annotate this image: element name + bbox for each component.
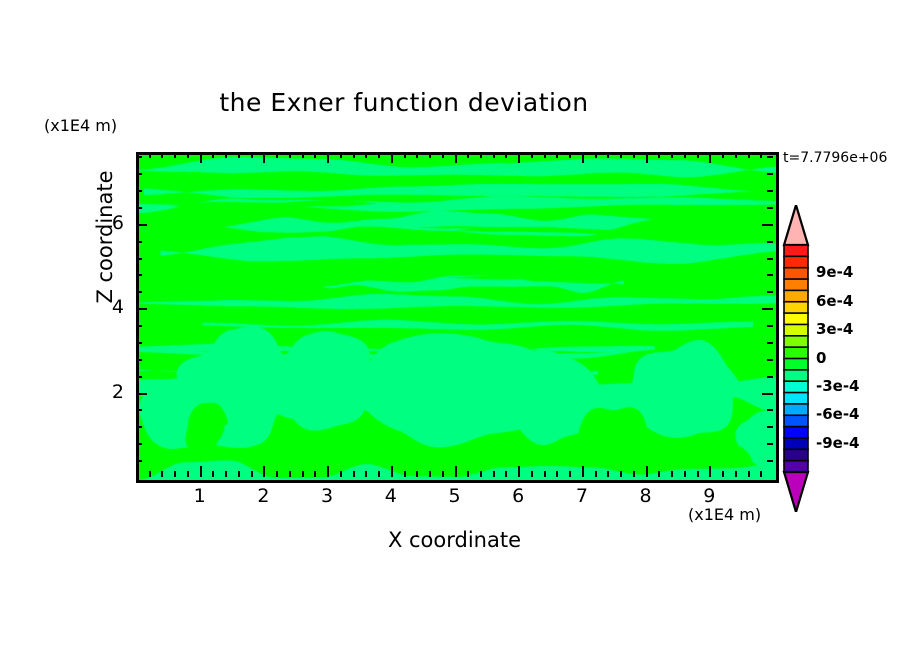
y-axis-tick	[136, 308, 147, 310]
x-axis-tick	[365, 152, 367, 158]
x-axis-tick	[276, 152, 278, 158]
x-axis-tick	[697, 471, 699, 477]
time-annotation: t=7.7796e+06	[783, 150, 887, 166]
x-axis-tick	[493, 152, 495, 158]
x-axis-tick	[327, 466, 329, 477]
x-axis-tick	[200, 152, 202, 163]
x-axis-tick	[289, 471, 291, 477]
colorbar-band	[784, 256, 808, 268]
x-axis-tick	[518, 466, 520, 477]
x-axis-tick	[212, 152, 214, 158]
x-axis-tick	[544, 152, 546, 158]
x-axis-tick	[544, 471, 546, 477]
y-axis-tick	[762, 393, 773, 395]
x-axis-tick	[697, 152, 699, 158]
y-axis-tick	[762, 224, 773, 226]
x-axis-tick	[302, 152, 304, 158]
x-axis-tick	[531, 471, 533, 477]
x-axis-tick	[505, 471, 507, 477]
x-axis-tick	[607, 471, 609, 477]
x-axis-tick	[455, 152, 457, 163]
x-axis-tick	[684, 471, 686, 477]
x-axis-tick	[633, 152, 635, 158]
colorbar-band	[784, 427, 808, 439]
x-axis-tick	[327, 152, 329, 163]
colorbar-band	[784, 393, 808, 405]
x-axis-tick	[684, 152, 686, 158]
x-axis-tick	[607, 152, 609, 158]
x-axis-tick	[480, 471, 482, 477]
y-axis-tick	[136, 393, 147, 395]
x-axis-tick	[493, 471, 495, 477]
y-axis-tick	[136, 443, 142, 445]
x-axis-tick	[467, 471, 469, 477]
y-axis-tick	[767, 409, 773, 411]
x-axis-tick	[353, 471, 355, 477]
x-axis-tick	[505, 152, 507, 158]
x-axis-tick	[760, 152, 762, 158]
x-axis-tick	[200, 466, 202, 477]
x-axis-tick	[187, 471, 189, 477]
x-axis-tick	[302, 471, 304, 477]
figure-root: the Exner function deviation (x1E4 m) t=…	[0, 0, 904, 654]
x-axis-tick	[480, 152, 482, 158]
x-axis-tick	[556, 471, 558, 477]
x-axis-tick	[671, 152, 673, 158]
page-title: the Exner function deviation	[0, 88, 856, 117]
y-axis-tick	[136, 325, 142, 327]
x-axis-tick	[455, 466, 457, 477]
colorbar-tick-label: -9e-4	[816, 434, 860, 452]
x-axis-tick	[556, 152, 558, 158]
y-axis-tick	[136, 173, 142, 175]
y-axis-tick	[767, 460, 773, 462]
y-axis-tick-label: 2	[84, 381, 124, 403]
y-axis-tick	[762, 308, 773, 310]
x-axis-tick	[174, 471, 176, 477]
x-axis-tick	[518, 152, 520, 163]
x-axis-tick	[722, 471, 724, 477]
colorbar-band	[784, 336, 808, 348]
colorbar-band	[784, 290, 808, 302]
x-axis-tick	[314, 471, 316, 477]
x-axis-tick-label: 2	[243, 485, 283, 507]
x-axis-tick	[212, 471, 214, 477]
y-axis-tick	[767, 376, 773, 378]
y-axis-tick	[136, 291, 142, 293]
y-axis-tick	[767, 241, 773, 243]
x-axis-tick-label: 8	[626, 485, 666, 507]
x-axis-tick	[251, 471, 253, 477]
x-axis-tick	[416, 152, 418, 158]
colorbar-over-arrow	[784, 205, 808, 245]
colorbar-band	[784, 347, 808, 359]
y-axis-tick	[767, 426, 773, 428]
y-axis-tick	[136, 224, 147, 226]
x-axis-tick	[735, 471, 737, 477]
x-axis-tick	[263, 466, 265, 477]
y-axis-tick	[767, 443, 773, 445]
y-axis-tick	[767, 207, 773, 209]
y-axis-title: Z coordinate	[93, 122, 117, 352]
colorbar-band	[784, 313, 808, 325]
x-axis-tick	[365, 471, 367, 477]
x-axis-tick	[748, 471, 750, 477]
x-axis-tick	[569, 152, 571, 158]
colorbar-band	[784, 324, 808, 336]
x-axis-tick	[658, 152, 660, 158]
x-axis-tick	[671, 471, 673, 477]
colorbar-band	[784, 404, 808, 416]
x-axis-tick	[225, 152, 227, 158]
x-axis-tick	[225, 471, 227, 477]
x-axis-tick	[620, 152, 622, 158]
colorbar-tick-label: 9e-4	[816, 263, 853, 281]
colorbar-tick-label: 0	[816, 349, 826, 367]
x-axis-tick	[569, 471, 571, 477]
x-axis-tick	[238, 152, 240, 158]
x-axis-tick	[353, 152, 355, 158]
x-axis-unit-label: (x1E4 m)	[688, 505, 761, 524]
y-axis-tick	[136, 409, 142, 411]
x-axis-tick	[620, 471, 622, 477]
y-axis-tick	[767, 274, 773, 276]
x-axis-tick	[263, 152, 265, 163]
x-axis-tick	[404, 471, 406, 477]
colorbar-band	[784, 302, 808, 314]
y-axis-tick	[767, 342, 773, 344]
x-axis-tick	[149, 152, 151, 158]
colorbar-band	[784, 381, 808, 393]
y-axis-tick	[136, 207, 142, 209]
x-axis-tick-label: 6	[498, 485, 538, 507]
contour-plot-area	[136, 152, 779, 483]
colorbar-band	[784, 279, 808, 291]
x-axis-tick	[416, 471, 418, 477]
y-axis-tick	[767, 325, 773, 327]
x-axis-tick	[709, 466, 711, 477]
x-axis-tick	[289, 152, 291, 158]
x-axis-tick	[161, 152, 163, 158]
x-axis-tick	[709, 152, 711, 163]
x-axis-tick	[391, 152, 393, 163]
x-axis-title: X coordinate	[136, 528, 773, 552]
colorbar-tick-label: 6e-4	[816, 292, 853, 310]
y-axis-tick	[767, 359, 773, 361]
colorbar-under-arrow	[784, 472, 808, 512]
x-axis-tick	[161, 471, 163, 477]
x-axis-tick	[595, 152, 597, 158]
x-axis-tick	[467, 152, 469, 158]
x-axis-tick	[314, 152, 316, 158]
colorbar-band	[784, 359, 808, 371]
x-axis-tick	[149, 471, 151, 477]
y-axis-tick	[136, 460, 142, 462]
x-axis-tick	[429, 471, 431, 477]
x-axis-tick	[391, 466, 393, 477]
x-axis-tick	[582, 466, 584, 477]
y-axis-tick	[767, 156, 773, 158]
x-axis-tick	[378, 471, 380, 477]
y-axis-tick	[136, 258, 142, 260]
x-axis-tick	[378, 152, 380, 158]
y-axis-tick	[136, 342, 142, 344]
x-axis-tick	[582, 152, 584, 163]
y-axis-tick	[136, 274, 142, 276]
x-axis-tick	[276, 471, 278, 477]
colorbar-svg	[782, 205, 810, 512]
y-axis-tick	[136, 241, 142, 243]
colorbar-band	[784, 245, 808, 257]
x-axis-tick-label: 7	[562, 485, 602, 507]
x-axis-tick	[748, 152, 750, 158]
x-axis-tick	[340, 471, 342, 477]
x-axis-tick	[238, 471, 240, 477]
x-axis-tick-label: 4	[371, 485, 411, 507]
x-axis-tick-label: 3	[307, 485, 347, 507]
x-axis-tick	[442, 152, 444, 158]
y-axis-tick	[136, 190, 142, 192]
x-axis-tick	[340, 152, 342, 158]
colorbar-band	[784, 449, 808, 461]
colorbar-band	[784, 268, 808, 280]
x-axis-tick	[404, 152, 406, 158]
x-axis-tick	[174, 152, 176, 158]
colorbar-band	[784, 461, 808, 473]
y-axis-tick	[767, 291, 773, 293]
x-axis-tick	[633, 471, 635, 477]
y-axis-tick	[136, 376, 142, 378]
x-axis-tick-label: 9	[689, 485, 729, 507]
colorbar-tick-label: -3e-4	[816, 377, 860, 395]
x-axis-tick-label: 1	[180, 485, 220, 507]
y-axis-tick	[767, 173, 773, 175]
colorbar-tick-label: -6e-4	[816, 405, 860, 423]
colorbar	[782, 205, 810, 512]
y-axis-tick	[767, 190, 773, 192]
x-axis-tick	[760, 471, 762, 477]
x-axis-tick	[187, 152, 189, 158]
contour-field-canvas	[139, 155, 776, 480]
colorbar-band	[784, 438, 808, 450]
y-axis-tick	[136, 359, 142, 361]
colorbar-tick-label: 3e-4	[816, 320, 853, 338]
x-axis-tick	[658, 471, 660, 477]
x-axis-tick-label: 5	[435, 485, 475, 507]
x-axis-tick	[531, 152, 533, 158]
x-axis-tick	[646, 152, 648, 163]
colorbar-band	[784, 415, 808, 427]
colorbar-band	[784, 370, 808, 382]
x-axis-tick	[595, 471, 597, 477]
x-axis-tick	[646, 466, 648, 477]
x-axis-tick	[735, 152, 737, 158]
y-axis-tick	[136, 426, 142, 428]
x-axis-tick	[722, 152, 724, 158]
x-axis-tick	[429, 152, 431, 158]
x-axis-tick	[442, 471, 444, 477]
y-axis-tick	[136, 156, 142, 158]
y-axis-tick	[767, 258, 773, 260]
x-axis-tick	[251, 152, 253, 158]
